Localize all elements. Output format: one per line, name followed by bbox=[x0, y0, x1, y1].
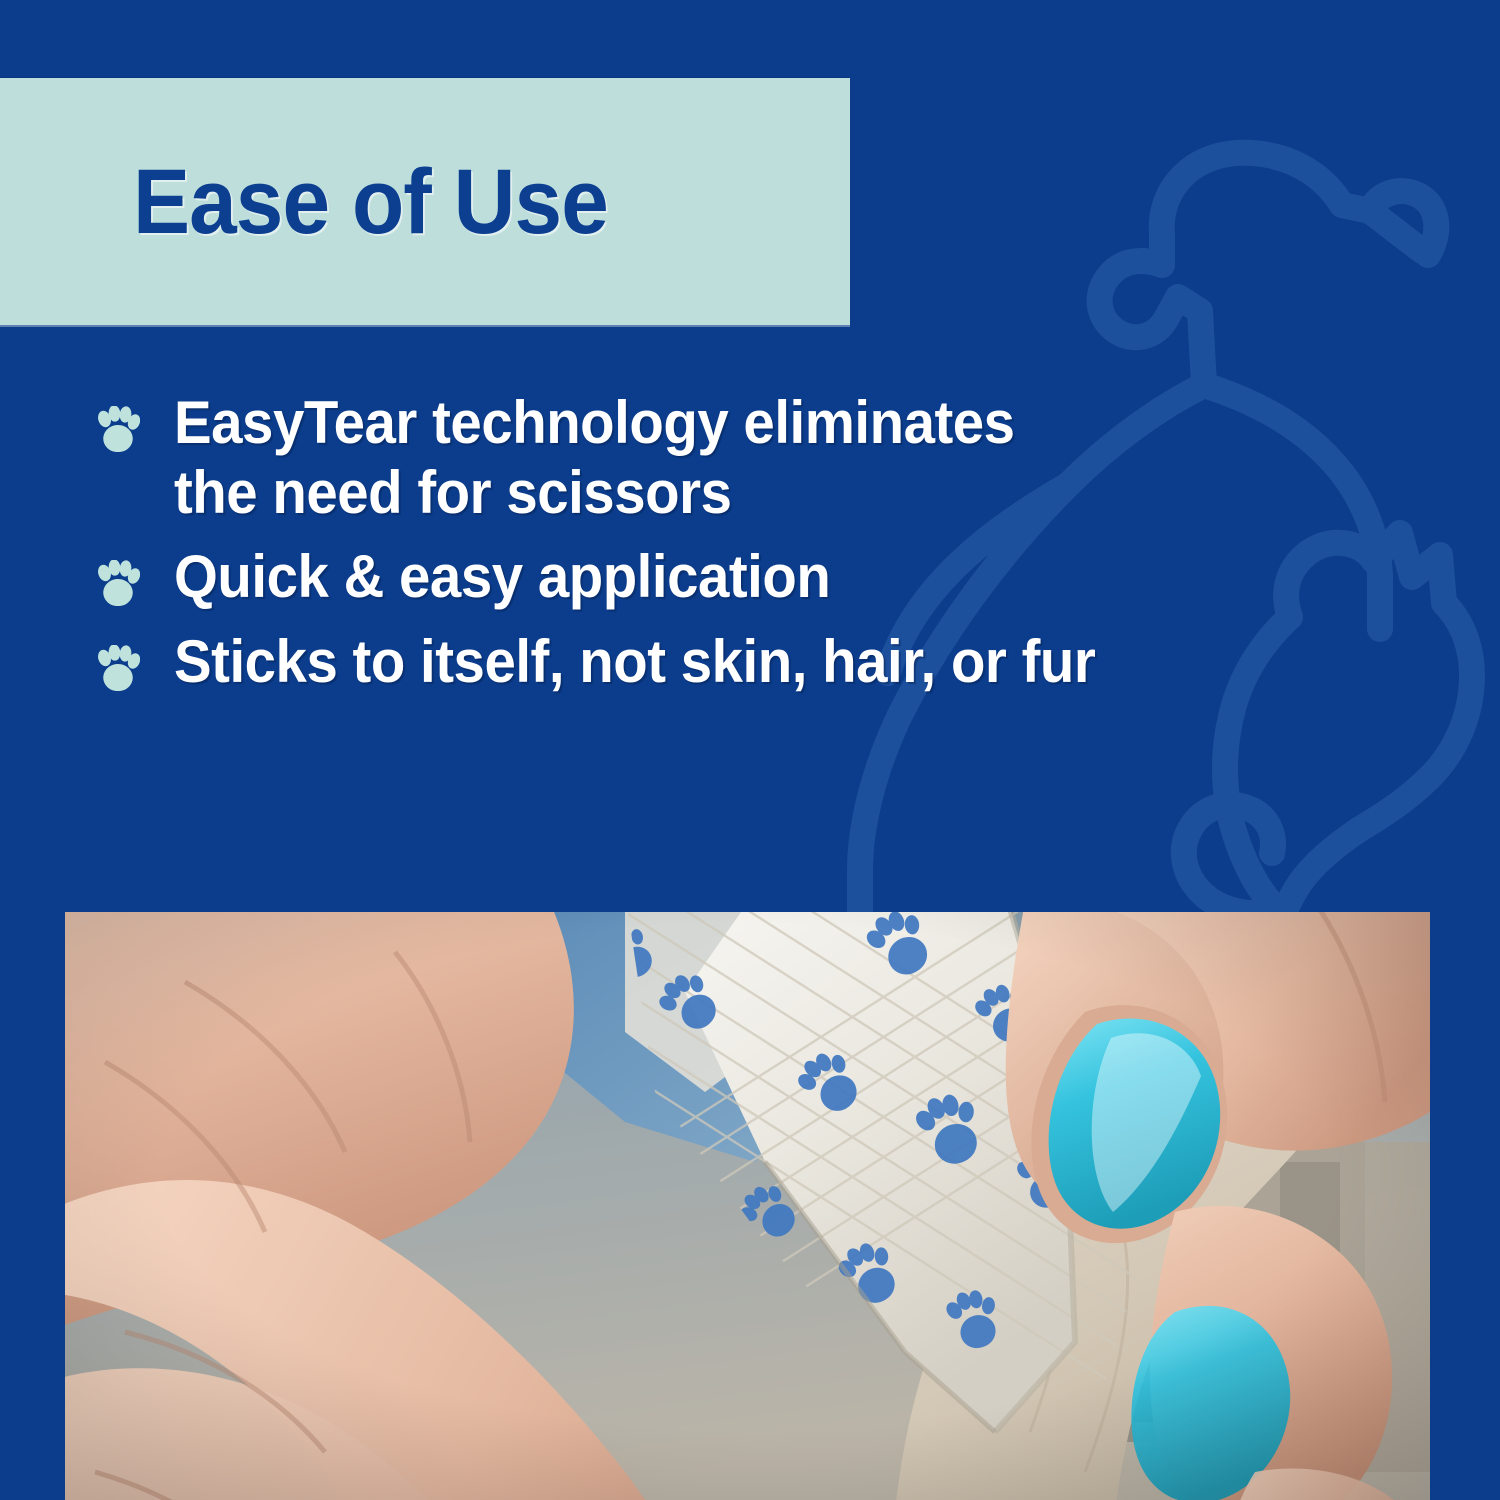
list-item-label: Sticks to itself, not skin, hair, or fur bbox=[174, 627, 1095, 697]
paw-print-icon bbox=[96, 560, 140, 608]
section-title-band: Ease of Use bbox=[0, 78, 850, 325]
list-item-label-line1: EasyTear technology eliminates bbox=[174, 388, 1015, 458]
list-item: Quick & easy application bbox=[96, 542, 1436, 612]
page-title: Ease of Use bbox=[133, 156, 608, 248]
list-item-label-line1: Quick & easy application bbox=[174, 542, 830, 612]
list-item-label: EasyTear technology eliminates the need … bbox=[174, 388, 1015, 528]
paw-print-icon bbox=[96, 406, 140, 454]
hands-tearing-bandage-photo bbox=[65, 912, 1430, 1500]
list-item: Sticks to itself, not skin, hair, or fur bbox=[96, 627, 1436, 697]
paw-print-icon bbox=[96, 645, 140, 693]
list-item-label-line2: the need for scissors bbox=[174, 458, 1015, 528]
promo-graphic-canvas: Ease of Use EasyTear technology eliminat… bbox=[0, 0, 1500, 1500]
feature-bullet-list: EasyTear technology eliminates the need … bbox=[96, 388, 1436, 697]
list-item: EasyTear technology eliminates the need … bbox=[96, 388, 1436, 528]
list-item-label-line1: Sticks to itself, not skin, hair, or fur bbox=[174, 627, 1095, 697]
list-item-label: Quick & easy application bbox=[174, 542, 830, 612]
